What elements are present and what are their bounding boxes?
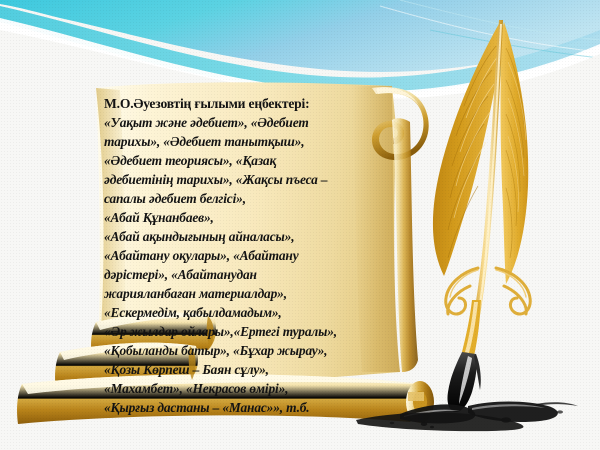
- quill-vane-right: [501, 22, 529, 284]
- ink-splatter: [356, 402, 578, 432]
- quill-flourish: [446, 268, 531, 314]
- slide-canvas: М.О.Әуезовтің ғылыми еңбектері: «Уақыт ж…: [0, 0, 600, 450]
- golden-quill-pen: [0, 0, 600, 450]
